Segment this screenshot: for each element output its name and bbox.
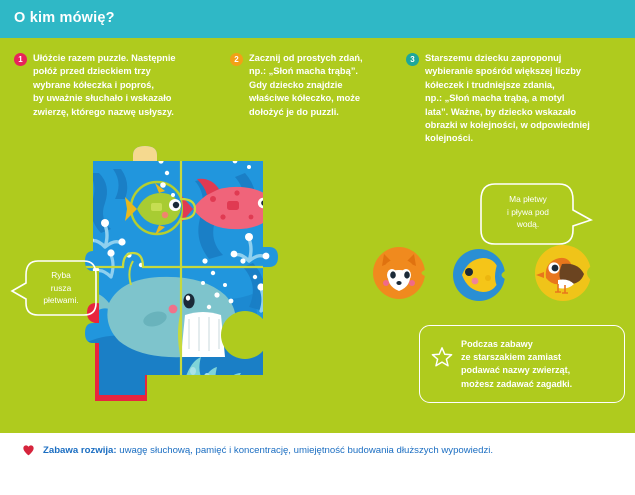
step-badge-1: 1: [14, 53, 27, 66]
star-icon: [431, 346, 453, 368]
tip-box-text: Podczas zabawy ze starszakiem zamiast po…: [461, 338, 619, 391]
instruction-step-2: 2 Zacznij od prostych zdań, np.: „Słoń m…: [230, 52, 390, 119]
page-root: O kim mówię? 1 Ułóżcie razem puzzle. Nas…: [0, 0, 635, 495]
heart-icon: [22, 444, 35, 457]
fox-token[interactable]: [372, 246, 426, 305]
instruction-step-3: 3 Starszemu dziecku zaproponuj wybierani…: [406, 52, 628, 146]
puzzle-pieces-group: [85, 143, 330, 405]
page-header: O kim mówię?: [0, 0, 635, 38]
speech-bubble-right: Ma płetwy i pływa pod wodą.: [477, 178, 597, 255]
step-badge-2: 2: [230, 53, 243, 66]
footer-detail: uwagę słuchową, pamięć i koncentrację, u…: [117, 445, 494, 456]
step-badge-3: 3: [406, 53, 419, 66]
footer-text: Zabawa rozwija: uwagę słuchową, pamięć i…: [43, 444, 493, 457]
fish-token[interactable]: [452, 248, 506, 307]
puzzle-top-nub: [133, 146, 157, 161]
footer-label: Zabawa rozwija:: [43, 445, 117, 456]
speech-bubble-left-text: Ryba rusza płetwami.: [30, 269, 92, 307]
instruction-step-1: 1 Ułóżcie razem puzzle. Następnie połóż …: [14, 52, 219, 119]
page-title: O kim mówię?: [14, 10, 115, 26]
sea-puzzle-illustration[interactable]: [85, 143, 330, 405]
empty-token-slot: [221, 311, 269, 359]
instruction-text-1: Ułóżcie razem puzzle. Następnie połóż pr…: [33, 52, 219, 119]
speech-bubble-left: Ryba rusza płetwami.: [8, 255, 100, 326]
instruction-text-2: Zacznij od prostych zdań, np.: „Słoń mac…: [249, 52, 390, 119]
speech-bubble-right-text: Ma płetwy i pływa pod wodą.: [487, 193, 569, 231]
tip-box: Podczas zabawy ze starszakiem zamiast po…: [419, 325, 625, 403]
instruction-text-3: Starszemu dziecku zaproponuj wybieranie …: [425, 52, 628, 146]
page-footer: Zabawa rozwija: uwagę słuchową, pamięć i…: [0, 433, 635, 495]
